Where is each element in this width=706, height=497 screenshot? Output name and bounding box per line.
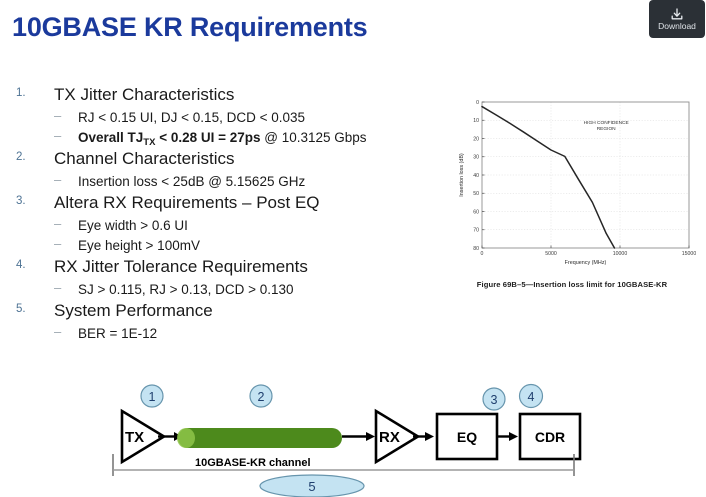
list-sublabel-5-1: BER = 1E-12 [78,326,157,341]
list-sublabel-4-1: SJ > 0.115, RJ > 0.13, DCD > 0.130 [78,282,294,297]
callout-4: 4 [520,385,543,408]
list-subitem-1-1: – RJ < 0.15 UI, DJ < 0.15, DCD < 0.035 [6,108,436,127]
svg-text:Insertion loss (dB): Insertion loss (dB) [459,153,465,197]
list-subitem-3-1: – Eye width > 0.6 UI [6,216,436,235]
list-sublabel-2-1: Insertion loss < 25dB @ 5.15625 GHz [78,174,305,189]
list-label-3: Altera RX Requirements – Post EQ [54,193,320,212]
tj-bold-prefix: Overall TJ [78,130,143,145]
callout-label-1: 1 [149,390,156,404]
callout-1: 1 [141,385,163,407]
svg-text:30: 30 [473,155,479,161]
list-sublabel-1-2: Overall TJTX < 0.28 UI = 27ps @ 10.3125 … [78,130,367,145]
svg-text:80: 80 [473,246,479,252]
channel-label: 10GBASE-KR channel [195,457,311,469]
list-sublabel-3-2: Eye height > 100mV [78,238,200,253]
slide-canvas: 10GBASE KR Requirements Download 1. TX J… [0,0,706,497]
download-button-label: Download [658,22,696,31]
dash-bullet-icon: – [54,127,61,145]
chart-caption: Figure 69B–5—Insertion loss limit for 10… [448,280,696,289]
svg-text:10000: 10000 [613,251,628,257]
svg-text:10: 10 [473,118,479,124]
tj-bold-mid: < 0.28 UI = 27ps [155,130,260,145]
list-subitem-5-1: – BER = 1E-12 [6,324,436,343]
dash-bullet-icon: – [54,171,61,189]
list-subitem-2-1: – Insertion loss < 25dB @ 5.15625 GHz [6,172,436,191]
download-arrow-icon [670,8,684,21]
list-subitem-4-1: – SJ > 0.115, RJ > 0.13, DCD > 0.130 [6,280,436,299]
list-item-5: 5. System Performance [6,300,436,323]
dash-bullet-icon: – [54,107,61,125]
svg-text:50: 50 [473,191,479,197]
list-label-4: RX Jitter Tolerance Requirements [54,257,308,276]
svg-text:REGION: REGION [597,126,616,132]
svg-text:40: 40 [473,173,479,179]
svg-text:0: 0 [481,251,484,257]
svg-text:HIGH CONFIDENCE: HIGH CONFIDENCE [584,120,629,126]
arrowhead-rx [425,432,434,441]
arrowhead-channel [366,432,375,441]
dash-bullet-icon: – [54,323,61,341]
list-item-1: 1. TX Jitter Characteristics [6,84,436,107]
chart-svg: 01020304050607080050001000015000 HIGH CO… [448,88,696,278]
list-item-4: 4. RX Jitter Tolerance Requirements [6,256,436,279]
arrowhead-eq [509,432,518,441]
callout-label-2: 2 [258,390,265,404]
requirements-list: 1. TX Jitter Characteristics – RJ < 0.15… [6,84,436,344]
list-subitem-1-2: – Overall TJTX < 0.28 UI = 27ps @ 10.312… [6,128,436,147]
list-label-2: Channel Characteristics [54,149,234,168]
list-number-1: 1. [16,86,26,101]
page-title: 10GBASE KR Requirements [12,12,368,43]
list-sublabel-3-1: Eye width > 0.6 UI [78,218,188,233]
list-sublabel-1-1: RJ < 0.15 UI, DJ < 0.15, DCD < 0.035 [78,110,305,125]
kr-channel-bar [178,428,342,448]
cdr-label: CDR [535,429,565,445]
eq-label: EQ [457,429,477,445]
callout-label-3: 3 [491,393,498,407]
callout-label-4: 4 [528,390,535,404]
tx-label: TX [125,429,144,446]
svg-text:5000: 5000 [545,251,557,257]
list-item-3: 3. Altera RX Requirements – Post EQ [6,192,436,215]
tj-subscript: TX [143,137,155,148]
dash-bullet-icon: – [54,215,61,233]
download-button[interactable]: Download [649,0,705,38]
list-number-3: 3. [16,194,26,209]
block-diagram: TX 10GBASE-KR channel RX EQ CDR [100,378,600,497]
tj-plain-tail: @ 10.3125 Gbps [261,130,367,145]
list-item-2: 2. Channel Characteristics [6,148,436,171]
rx-label: RX [379,429,400,446]
callout-3: 3 [483,388,505,410]
list-label-5: System Performance [54,301,213,320]
svg-text:70: 70 [473,228,479,234]
list-label-1: TX Jitter Characteristics [54,85,234,104]
list-subitem-3-2: – Eye height > 100mV [6,236,436,255]
callout-5: 5 [260,475,364,497]
dash-bullet-icon: – [54,279,61,297]
svg-text:Frequency (MHz): Frequency (MHz) [565,260,607,266]
callout-label-5: 5 [308,479,315,494]
svg-text:60: 60 [473,209,479,215]
list-number-5: 5. [16,302,26,317]
svg-text:15000: 15000 [682,251,696,257]
svg-text:20: 20 [473,136,479,142]
callout-2: 2 [250,385,272,407]
svg-text:0: 0 [476,100,479,106]
list-number-2: 2. [16,150,26,165]
channel-end-highlight [177,428,195,448]
insertion-loss-chart: 01020304050607080050001000015000 HIGH CO… [448,88,696,303]
list-number-4: 4. [16,258,26,273]
dash-bullet-icon: – [54,235,61,253]
